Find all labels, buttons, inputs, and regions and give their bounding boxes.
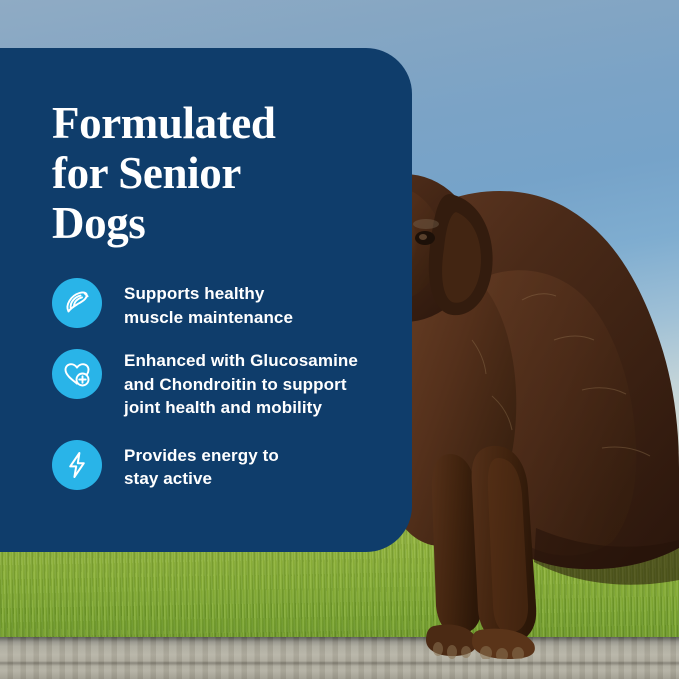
page-title: Formulated for Senior Dogs <box>52 98 382 248</box>
panel-content: Formulated for Senior Dogs Supports heal… <box>0 48 412 552</box>
list-item-label: Enhanced with Glucosamine and Chondroiti… <box>124 349 358 420</box>
list-item: Supports healthy muscle maintenance <box>52 278 382 329</box>
heart-plus-icon <box>52 349 102 399</box>
muscle-icon <box>52 278 102 328</box>
list-item-label: Supports healthy muscle maintenance <box>124 278 293 329</box>
list-item-label: Provides energy to stay active <box>124 440 279 491</box>
lightning-bolt-icon <box>52 440 102 490</box>
list-item: Provides energy to stay active <box>52 440 382 491</box>
list-item: Enhanced with Glucosamine and Chondroiti… <box>52 349 382 420</box>
feature-list: Supports healthy muscle maintenance Enha… <box>52 278 382 491</box>
promo-image: Formulated for Senior Dogs Supports heal… <box>0 0 679 679</box>
